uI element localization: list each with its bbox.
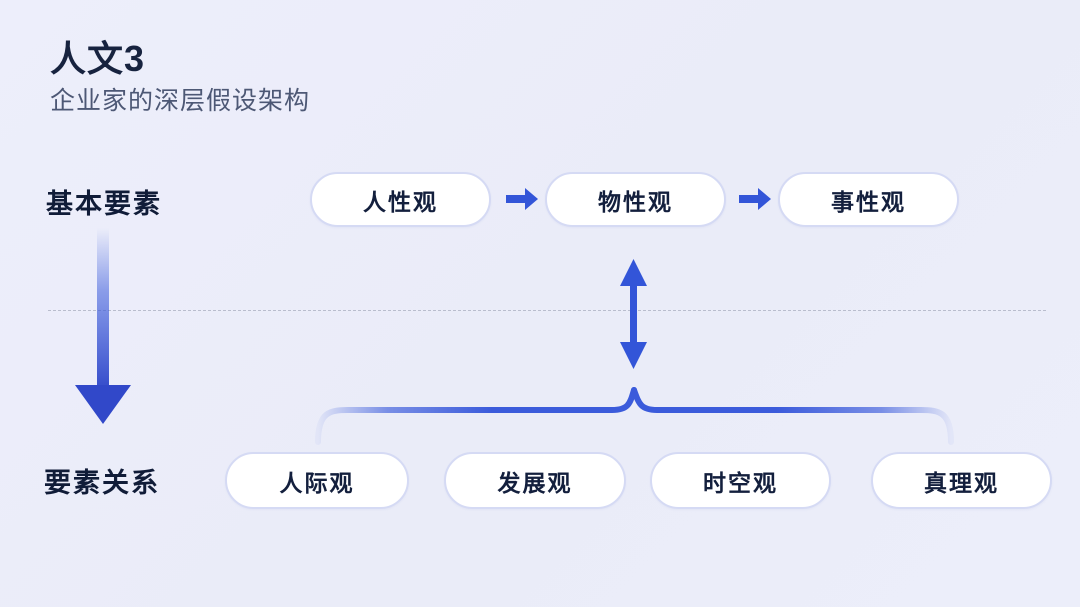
page-subtitle: 企业家的深层假设架构 [50,85,310,118]
heading-block: 人文3 企业家的深层假设架构 [50,38,310,118]
vertical-double-arrow-icon [620,259,647,369]
pill-interpersonal-view[interactable]: 人际观 [225,452,409,509]
pill-truth-view[interactable]: 真理观 [871,452,1052,509]
pill-material-nature-view[interactable]: 物性观 [545,172,726,227]
pill-matter-nature-view[interactable]: 事性观 [778,172,959,227]
down-arrow-gradient-icon [75,228,131,424]
pill-label: 人性观 [363,183,438,217]
dashed-divider [48,310,1046,311]
pill-label: 真理观 [924,464,999,498]
pill-label: 事性观 [831,183,906,217]
pill-label: 时空观 [703,464,778,498]
page-title: 人文3 [50,38,310,79]
pill-label: 人际观 [280,464,355,498]
right-arrow-icon [737,185,773,213]
right-arrow-icon [504,185,540,213]
row-label-element-relations: 要素关系 [44,461,160,500]
row-label-basic-elements: 基本要素 [46,182,162,221]
pill-development-view[interactable]: 发展观 [444,452,626,509]
pill-label: 发展观 [498,464,573,498]
pill-spacetime-view[interactable]: 时空观 [650,452,831,509]
pill-human-nature-view[interactable]: 人性观 [310,172,491,227]
pill-label: 物性观 [598,183,673,217]
curly-brace-icon [318,390,951,442]
slide-canvas: 人文3 企业家的深层假设架构 基本要素 要素关系 [0,0,1080,607]
